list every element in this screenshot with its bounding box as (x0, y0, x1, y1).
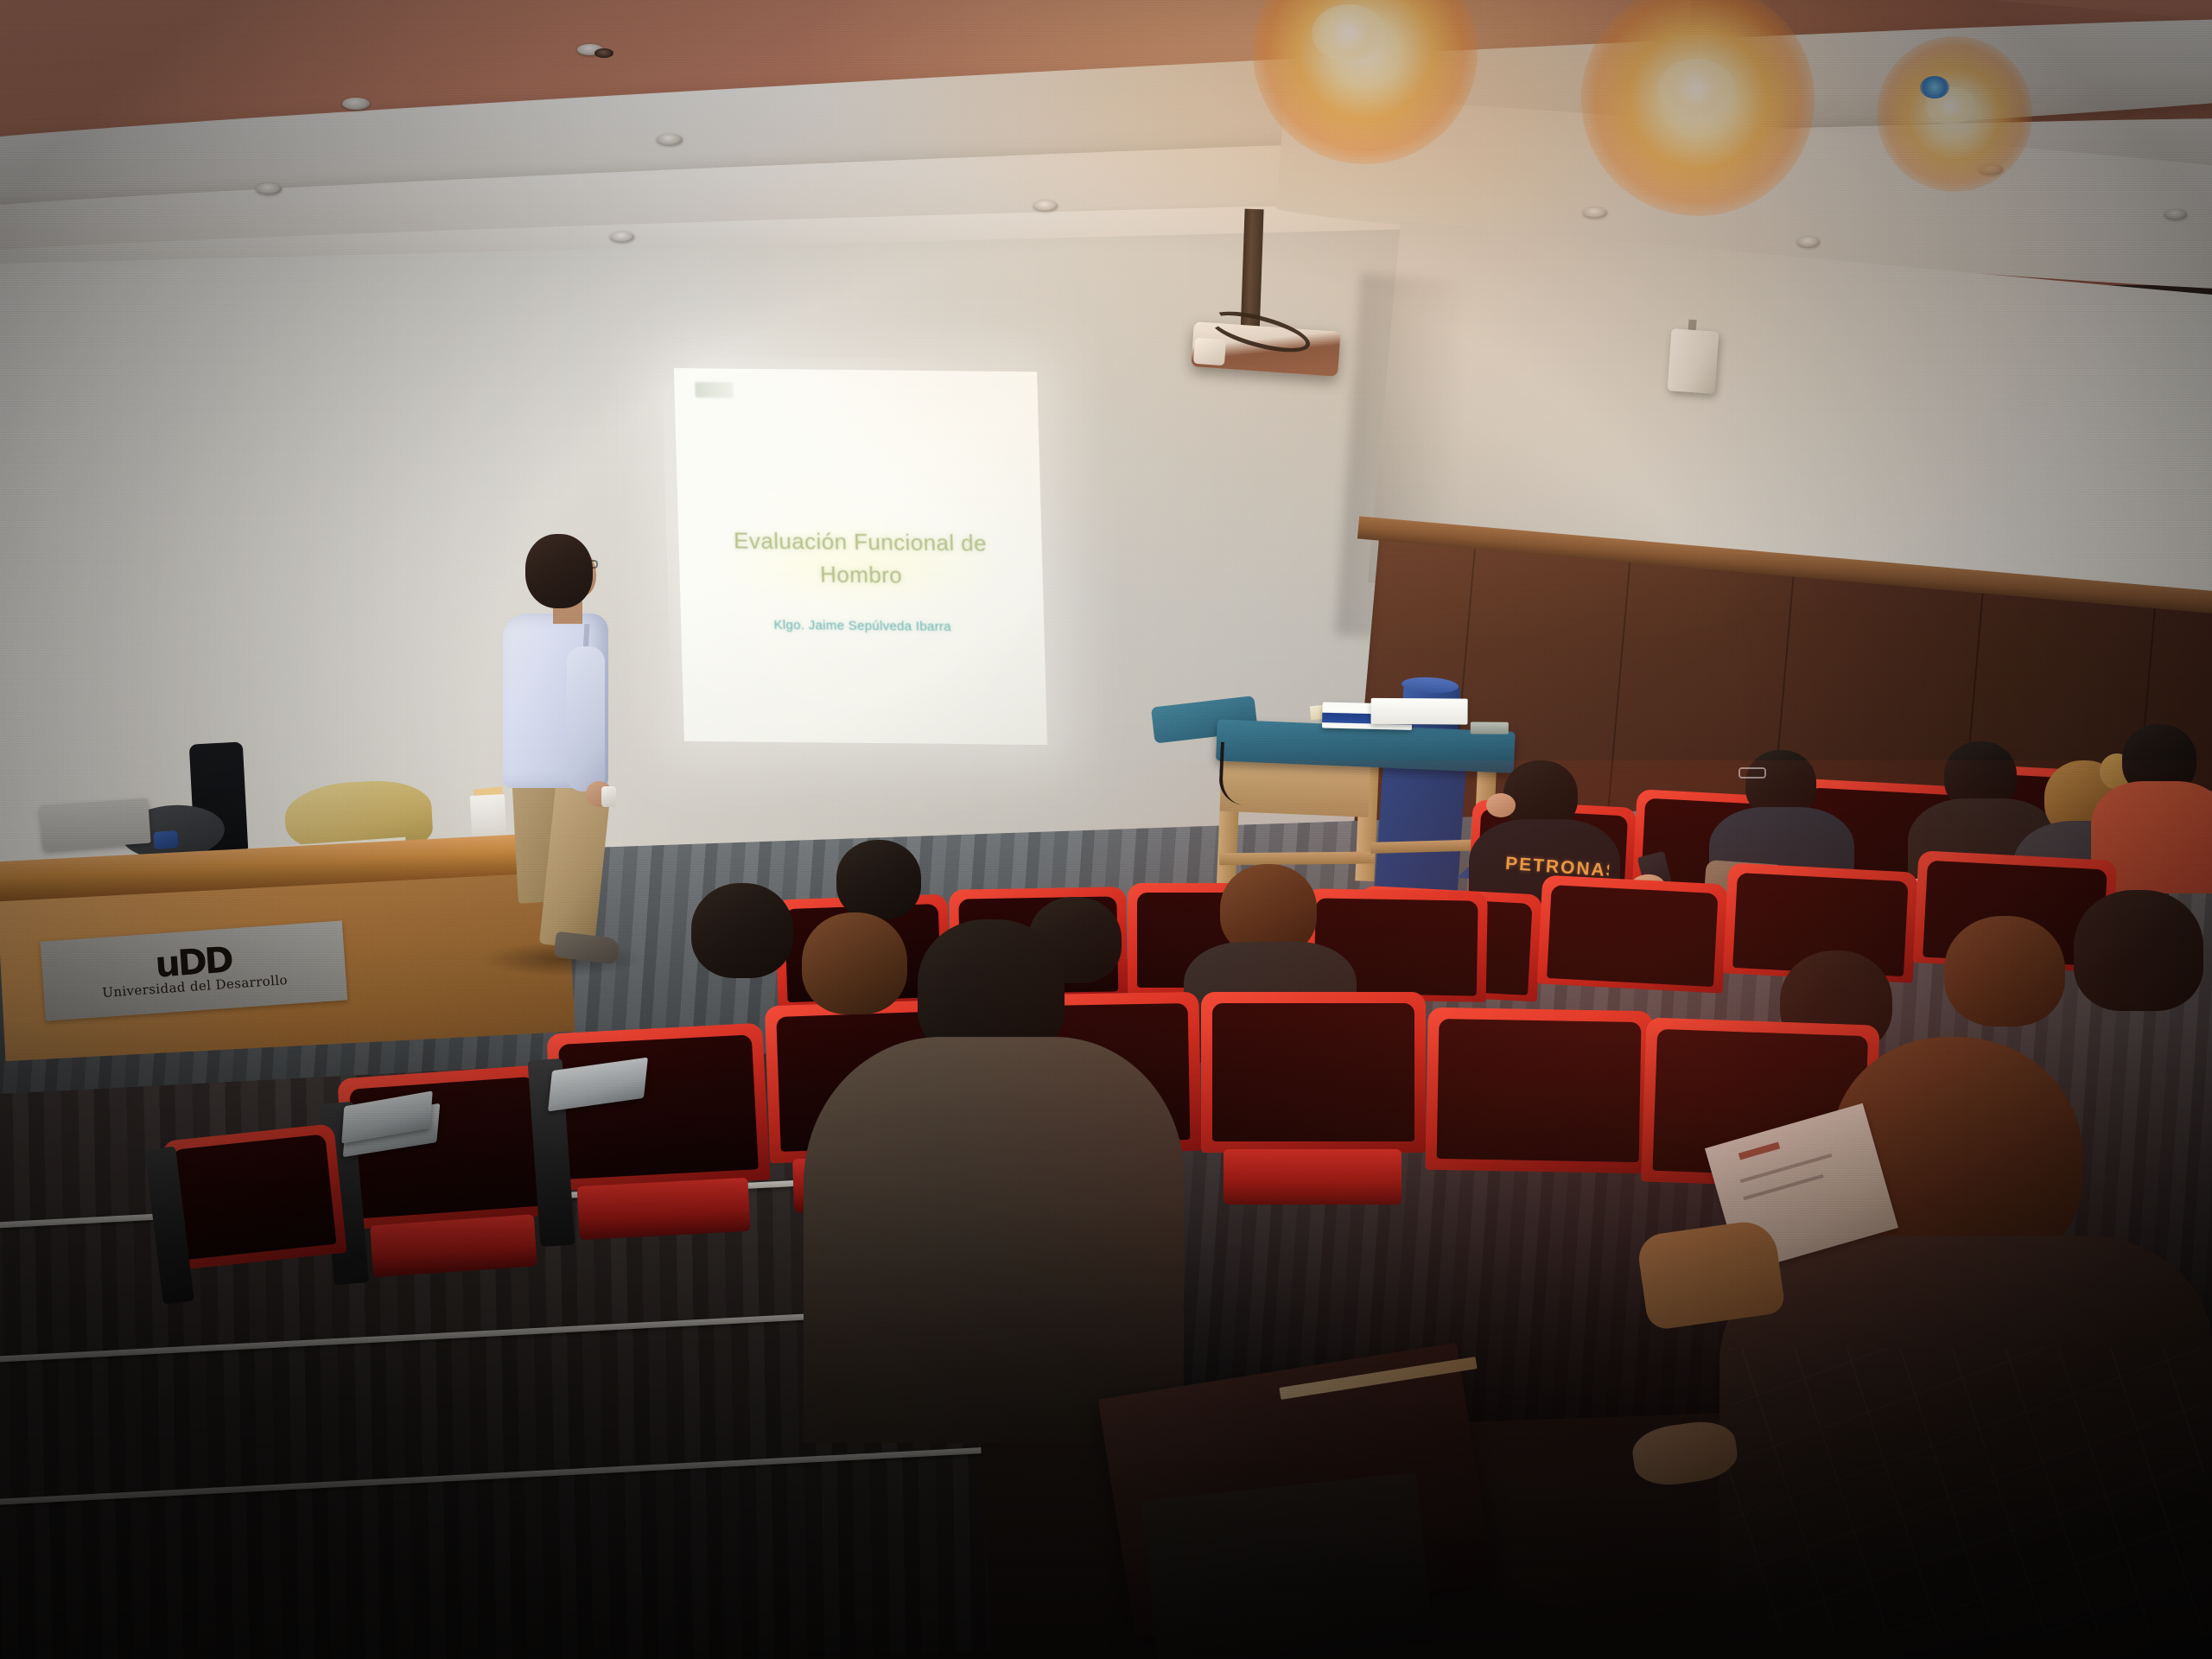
auditorium-photo: Evaluación Funcional de Hombro Klgo. Jai… (0, 0, 2212, 1659)
sensor-noise (0, 0, 2212, 1659)
